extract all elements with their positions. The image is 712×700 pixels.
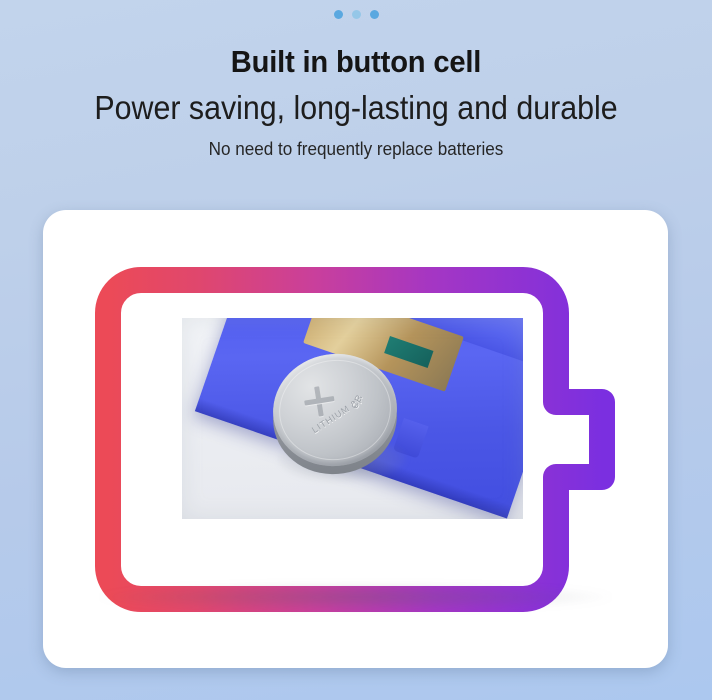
feature-card: LITHIUM 3V CR [43, 210, 668, 668]
page-subtitle: Power saving, long-lasting and durable [28, 86, 683, 130]
page-tagline: No need to frequently replace batteries [18, 136, 694, 162]
page-title: Built in button cell [21, 42, 690, 82]
carousel-dots [0, 10, 712, 19]
carousel-dot-2[interactable] [352, 10, 361, 19]
carousel-dot-3[interactable] [370, 10, 379, 19]
promo-banner: Built in button cell Power saving, long-… [0, 0, 712, 700]
heading-block: Built in button cell Power saving, long-… [0, 42, 712, 162]
carousel-dot-1[interactable] [334, 10, 343, 19]
product-photo: LITHIUM 3V CR [182, 318, 523, 519]
